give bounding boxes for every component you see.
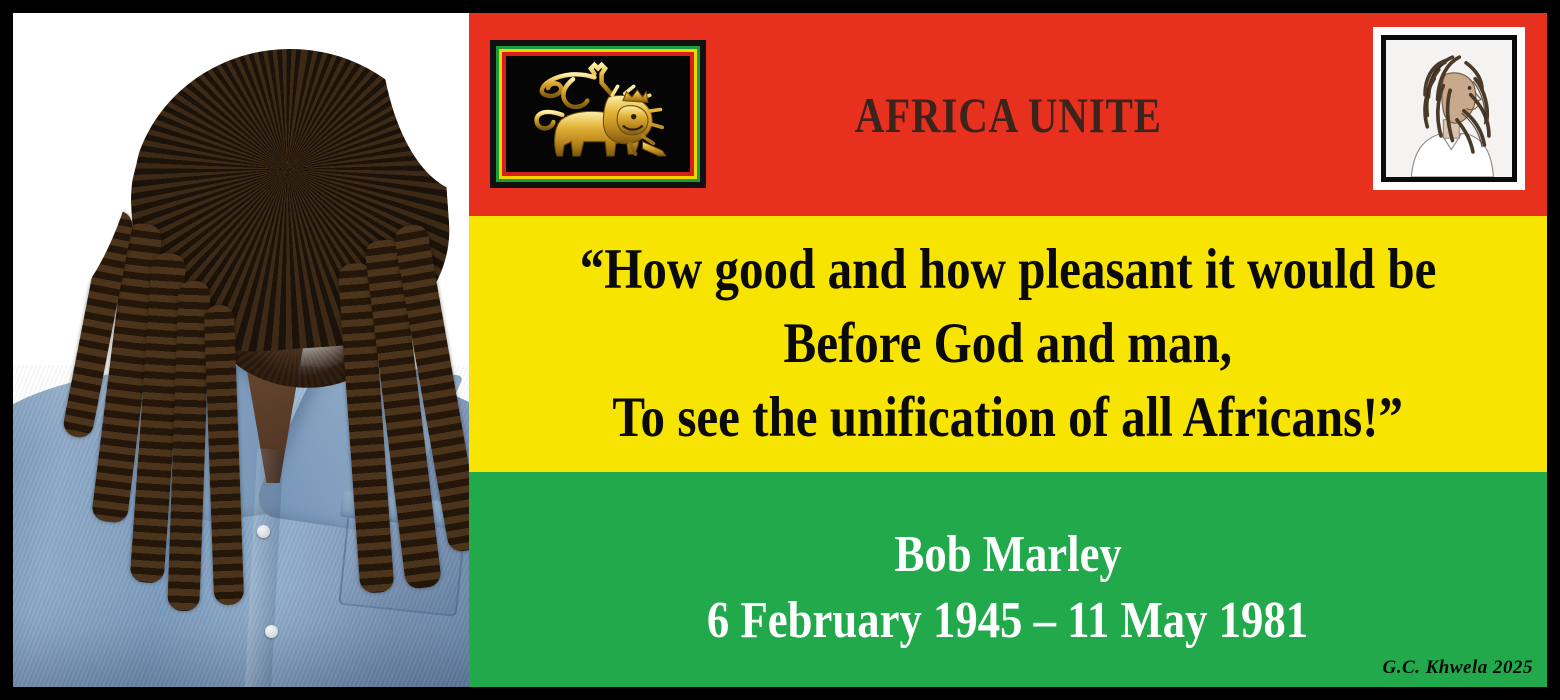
author-dates: 6 February 1945 – 11 May 1981 (707, 590, 1308, 652)
shirt-button (265, 625, 278, 638)
poster-title-text: AFRICA UNITE (854, 86, 1161, 144)
quote-line-1: “How good and how pleasant it would be (580, 234, 1437, 306)
artist-signature: G.C. Khwela 2025 (1382, 657, 1533, 679)
sketch-portrait-frame (1373, 27, 1525, 190)
rasta-flag-panel: AFRICA UNITE (469, 13, 1547, 687)
author-name: Bob Marley (894, 524, 1121, 586)
quote-line-2: Before God and man, (784, 308, 1232, 380)
poster: AFRICA UNITE (0, 0, 1560, 700)
quote-line-3: To see the unification of all Africans!” (613, 382, 1404, 454)
attribution-block: Bob Marley 6 February 1945 – 11 May 1981 (469, 472, 1547, 687)
sketch-portrait (1381, 35, 1517, 182)
shirt-button (257, 525, 270, 538)
bob-marley-photo (13, 13, 469, 687)
quote-block: “How good and how pleasant it would be B… (469, 216, 1547, 472)
bob-marley-sketch-icon (1386, 40, 1512, 177)
